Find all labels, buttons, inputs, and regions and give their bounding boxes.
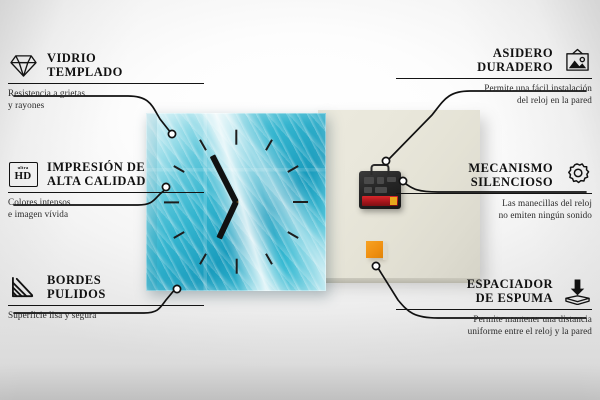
callout-header: BORDES PULIDOS	[8, 272, 204, 302]
callout-header: MECANISMO SILENCIOSO	[396, 160, 592, 190]
mechanism-detail	[387, 177, 396, 182]
callout-title: MECANISMO SILENCIOSO	[468, 161, 553, 190]
callout-rule	[8, 305, 204, 306]
foam-spacer-side	[383, 243, 387, 260]
callout-title-line2: SILENCIOSO	[471, 175, 553, 189]
callout-rule	[8, 83, 204, 84]
mechanism-detail	[364, 187, 372, 193]
clock-tick	[287, 165, 298, 173]
callout-title-line2: DE ESPUMA	[476, 291, 553, 305]
callout-desc-line2: uniforme entre el reloj y la pared	[468, 326, 592, 336]
callout-rule	[396, 78, 592, 79]
callout-rule	[396, 193, 592, 194]
callout-desc-line1: Las manecillas del reloj	[502, 198, 592, 208]
callout-title-line1: VIDRIO	[47, 51, 96, 65]
mechanism-detail	[377, 177, 384, 184]
callout-title-line1: MECANISMO	[468, 161, 553, 175]
clock-hand	[216, 201, 238, 240]
callout-desc-line2: no emiten ningún sonido	[499, 210, 592, 220]
callout-description: Resistencia a grietas y rayones	[8, 87, 204, 111]
callout-rule	[8, 192, 204, 193]
callout-title-line2: DURADERO	[477, 60, 553, 74]
callout-asidero-duradero: ASIDERO DURADERO Permite una fácil insta…	[396, 45, 592, 106]
callout-title-line2: ALTA CALIDAD	[47, 174, 146, 188]
callout-title-line2: PULIDOS	[47, 287, 106, 301]
callout-espaciador-de-espuma: ESPACIADOR DE ESPUMA Permite mantener un…	[396, 276, 592, 337]
clock-tick	[199, 139, 207, 150]
callout-desc-line1: Permite mantener una distancia	[473, 314, 592, 324]
hd-badge: ultra HD	[9, 162, 38, 187]
gear-icon	[562, 160, 592, 190]
callout-title-line1: IMPRESIÓN DE	[47, 160, 145, 174]
clock-tick	[235, 259, 237, 274]
mechanism-detail	[364, 177, 374, 184]
product-infographic: VIDRIO TEMPLADO Resistencia a grietas y …	[0, 0, 600, 400]
clock-hand	[210, 154, 239, 203]
callout-description: Permite mantener una distancia uniforme …	[396, 313, 592, 337]
picture-frame-hanger-icon	[562, 45, 592, 75]
callout-impresion-alta-calidad: ultra HD IMPRESIÓN DE ALTA CALIDAD Color…	[8, 159, 204, 220]
mechanism-hanger-icon	[371, 164, 390, 175]
callout-title: ESPACIADOR DE ESPUMA	[467, 277, 553, 306]
callout-header: VIDRIO TEMPLADO	[8, 50, 204, 80]
mechanism-detail	[375, 187, 387, 193]
callout-header: ultra HD IMPRESIÓN DE ALTA CALIDAD	[8, 159, 204, 189]
callout-desc-line1: Permite una fácil instalación	[484, 83, 592, 93]
clock-tick	[293, 201, 308, 203]
clock-tick	[173, 231, 184, 239]
callout-desc-line1: Colores intensos	[8, 197, 71, 207]
clock-mechanism	[359, 171, 401, 209]
mechanism-battery	[362, 196, 398, 206]
callout-rule	[396, 309, 592, 310]
callout-desc-line2: y rayones	[8, 100, 44, 110]
callout-description: Las manecillas del reloj no emiten ningú…	[396, 197, 592, 221]
foam-spacer-pad	[366, 241, 383, 258]
callout-title: VIDRIO TEMPLADO	[47, 51, 123, 80]
callout-title-line1: ASIDERO	[493, 46, 553, 60]
callout-desc-line1: Superficie lisa y segura	[8, 310, 96, 320]
callout-header: ESPACIADOR DE ESPUMA	[396, 276, 592, 306]
clock-tick	[199, 253, 207, 264]
callout-title-line1: BORDES	[47, 273, 101, 287]
callout-title-line2: TEMPLADO	[47, 65, 123, 79]
clock-tick	[265, 253, 273, 264]
ultra-hd-badge-icon: ultra HD	[8, 159, 38, 189]
polished-edges-icon	[8, 272, 38, 302]
callout-bordes-pulidos: BORDES PULIDOS Superficie lisa y segura	[8, 272, 204, 321]
diamond-icon	[8, 50, 38, 80]
callout-title-line1: ESPACIADOR	[467, 277, 553, 291]
callout-vidrio-templado: VIDRIO TEMPLADO Resistencia a grietas y …	[8, 50, 204, 111]
callout-desc-line2: e imagen vívida	[8, 209, 68, 219]
callout-desc-line1: Resistencia a grietas	[8, 88, 85, 98]
callout-title: BORDES PULIDOS	[47, 273, 106, 302]
clock-tick	[265, 139, 273, 150]
clock-tick	[287, 231, 298, 239]
callout-desc-line2: del reloj en la pared	[517, 95, 592, 105]
callout-mecanismo-silencioso: MECANISMO SILENCIOSO Las manecillas del …	[396, 160, 592, 221]
callout-description: Superficie lisa y segura	[8, 309, 204, 321]
callout-title: IMPRESIÓN DE ALTA CALIDAD	[47, 160, 146, 189]
callout-title: ASIDERO DURADERO	[477, 46, 553, 75]
clock-tick	[235, 130, 237, 145]
callout-header: ASIDERO DURADERO	[396, 45, 592, 75]
hd-badge-main-label: HD	[15, 171, 32, 182]
arrow-press-foam-icon	[562, 276, 592, 306]
callout-description: Permite una fácil instalación del reloj …	[396, 82, 592, 106]
callout-description: Colores intensos e imagen vívida	[8, 196, 204, 220]
